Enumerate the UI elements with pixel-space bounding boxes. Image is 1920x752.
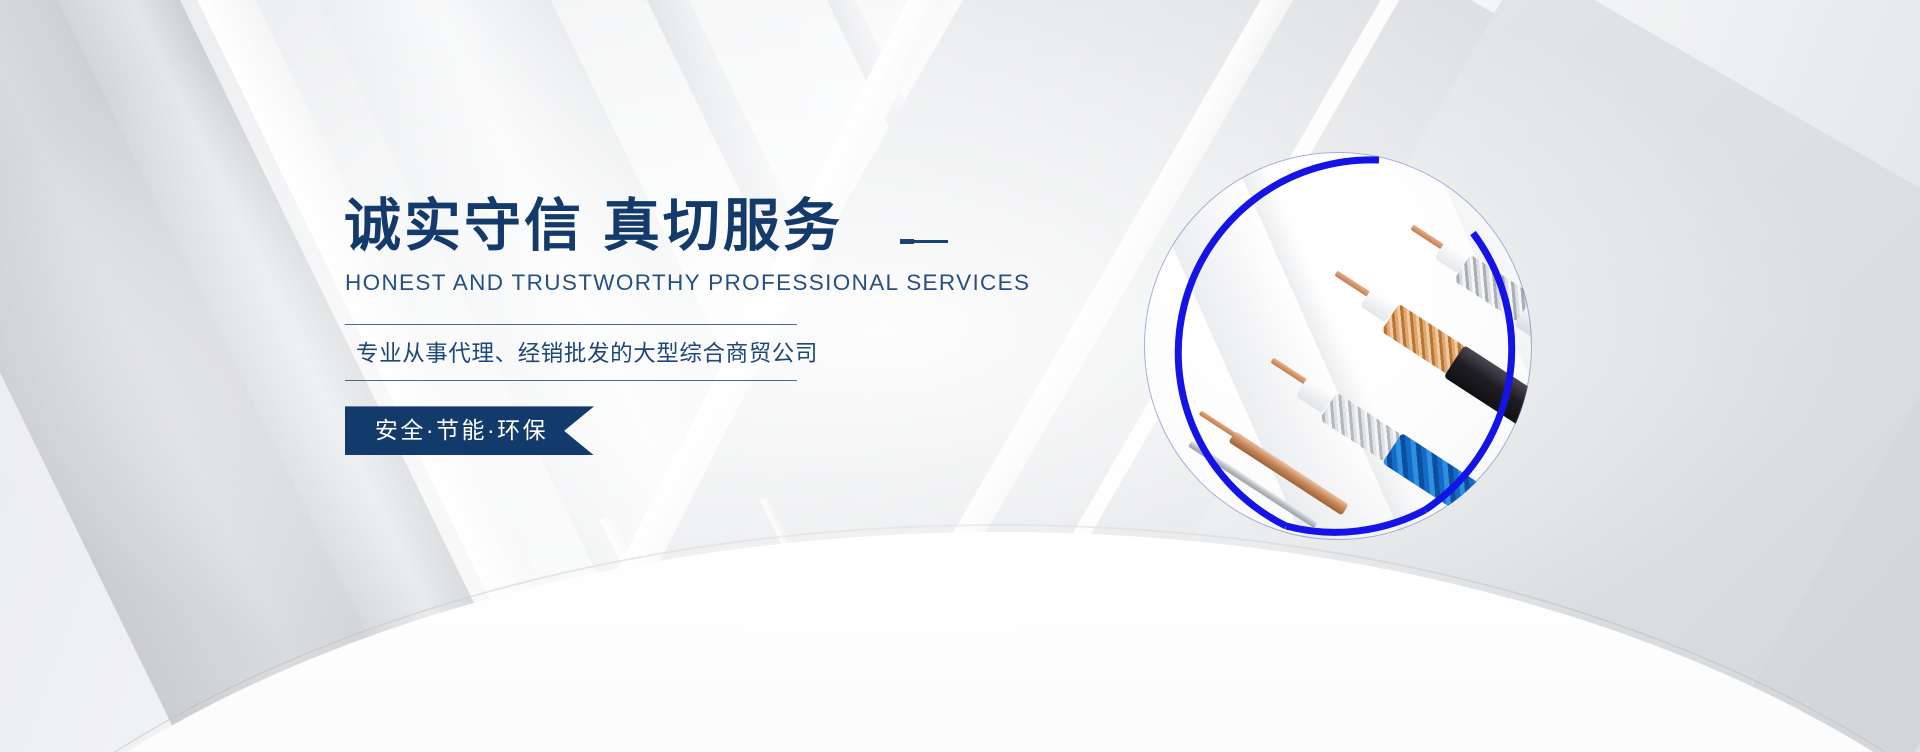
- subtitle-english: HONEST AND TRUSTWORTHY PROFESSIONAL SERV…: [345, 270, 864, 296]
- hero-text-block: 诚实守信 真切服务 HONEST AND TRUSTWORTHY PROFESS…: [344, 196, 864, 455]
- divider-top: [345, 324, 797, 325]
- tagline-chinese: 专业从事代理、经销批发的大型综合商贸公司: [344, 325, 864, 380]
- product-medallion[interactable]: ʃʅʃʅ—⅀⅄: [1138, 146, 1538, 546]
- hero-banner: 诚实守信 真切服务 HONEST AND TRUSTWORTHY PROFESS…: [0, 0, 1920, 752]
- status-badge[interactable]: 安全·节能·环保: [345, 406, 594, 455]
- page-title: 诚实守信 真切服务: [344, 196, 864, 256]
- divider-bottom: [345, 380, 797, 381]
- thin-inner-ring: [1144, 152, 1532, 540]
- status-badge-label: 安全·节能·环保: [375, 419, 564, 442]
- navy-accent-dash-cap-icon: [900, 239, 914, 244]
- background-vignette: [0, 0, 1920, 752]
